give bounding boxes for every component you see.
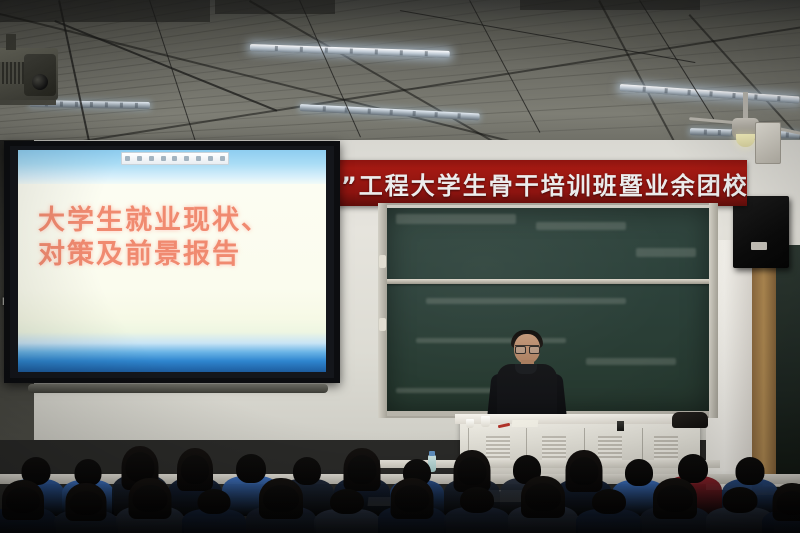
audience-member: [378, 484, 446, 533]
light-diffuser-segment: [325, 48, 328, 53]
audience-member-head: [263, 485, 299, 512]
projector-mount-plate: [0, 100, 56, 105]
slideshow-toolbar-icon[interactable]: [161, 156, 166, 161]
slideshow-toolbar-icon[interactable]: [149, 156, 154, 161]
projector-mount: [6, 34, 16, 50]
audience-member-head: [592, 489, 626, 514]
audience-member: [576, 488, 642, 533]
chalk-smudge: [636, 248, 696, 257]
slide-title-line-2: 对策及前景报告: [38, 238, 310, 272]
light-diffuser-segment: [367, 109, 370, 114]
light-diffuser-segment: [300, 47, 303, 52]
presenter: [487, 330, 567, 425]
slideshow-toolbar-icon[interactable]: [208, 156, 213, 161]
light-diffuser-segment: [435, 112, 438, 117]
light-diffuser-segment: [275, 46, 278, 51]
audience-member: [116, 484, 184, 533]
ceiling-tile: [520, 0, 700, 10]
audience: [0, 424, 800, 533]
slide-title: 大学生就业现状、 对策及前景报告: [38, 204, 310, 272]
audience-member-head: [330, 489, 364, 514]
light-diffuser-segment: [777, 96, 780, 101]
audience-member-head: [777, 491, 800, 515]
blackboard-left-edge: [378, 203, 387, 418]
light-diffuser-segment: [375, 49, 378, 54]
light-diffuser-segment: [412, 111, 415, 116]
light-diffuser-segment: [322, 106, 325, 111]
audience-member: [508, 482, 578, 533]
light-diffuser-segment: [350, 48, 353, 53]
light-diffuser-segment: [75, 102, 78, 107]
light-diffuser-segment: [105, 102, 108, 107]
audience-member: [0, 486, 56, 533]
light-diffuser-segment: [754, 94, 757, 99]
podium-top-surface: [455, 414, 705, 424]
audience-member: [182, 488, 246, 533]
audience-member-head: [6, 487, 40, 513]
speaker-badge: [751, 242, 767, 250]
light-diffuser-segment: [135, 103, 138, 108]
slideshow-toolbar-icon[interactable]: [196, 156, 201, 161]
floor-speaker: [733, 196, 789, 268]
audience-member-head: [395, 485, 430, 512]
projector-lens-housing: [24, 54, 56, 96]
slideshow-toolbar-icon[interactable]: [125, 156, 130, 161]
projected-slide: 大学生就业现状、 对策及前景报告: [18, 150, 326, 372]
light-diffuser-segment: [786, 132, 789, 137]
projector-vent: [0, 62, 26, 84]
presenter-collar: [515, 364, 537, 374]
light-diffuser-segment: [390, 110, 393, 115]
light-diffuser-segment: [704, 129, 707, 134]
light-diffuser-segment: [60, 102, 63, 107]
audience-member-head: [70, 491, 103, 515]
light-diffuser-segment: [400, 50, 403, 55]
audience-member-head: [460, 487, 494, 513]
powerpoint-toolbar[interactable]: [121, 152, 229, 165]
audience-member: [314, 488, 380, 533]
slideshow-toolbar-icon[interactable]: [137, 156, 142, 161]
audience-member-head: [525, 483, 561, 511]
audience-member: [762, 490, 800, 533]
ceiling: [0, 0, 800, 152]
slideshow-toolbar-icon[interactable]: [220, 156, 225, 161]
blackboard-chalk-rail: [386, 279, 710, 284]
slideshow-toolbar-icon[interactable]: [172, 156, 177, 161]
audience-member: [246, 484, 316, 533]
projector-lens: [32, 74, 48, 90]
slideshow-toolbar-icon[interactable]: [184, 156, 189, 161]
light-diffuser-segment: [709, 91, 712, 96]
light-diffuser-segment: [642, 87, 645, 92]
chalk-smudge: [396, 214, 516, 224]
blackboard-clip: [379, 255, 386, 268]
light-diffuser-segment: [732, 93, 735, 98]
audience-member: [640, 484, 710, 533]
blackboard-right-edge: [709, 203, 718, 418]
audience-member: [54, 490, 118, 533]
screen-bottom-roller: [28, 384, 328, 393]
lecture-hall-photo: EW ”工程大学生骨干培训班暨业余团校 大学生就业现状、 对策及前景报告: [0, 0, 800, 533]
chalk-smudge: [586, 358, 676, 365]
light-diffuser-segment: [120, 103, 123, 108]
light-diffuser-segment: [717, 130, 720, 135]
light-diffuser-segment: [457, 113, 460, 118]
red-banner: ”工程大学生骨干培训班暨业余团校: [337, 160, 747, 206]
glasses-icon: [515, 345, 539, 352]
audience-member-head: [657, 485, 693, 512]
slide-title-line-1: 大学生就业现状、: [38, 204, 310, 238]
light-diffuser-segment: [687, 90, 690, 95]
ceiling-tile: [215, 0, 335, 14]
audience-member: [444, 486, 510, 533]
banner-text: ”工程大学生骨干培训班暨业余团校: [341, 166, 747, 201]
light-diffuser-segment: [425, 51, 428, 56]
chalk-smudge: [426, 298, 626, 304]
wall-speaker: [755, 122, 781, 164]
audience-member-head: [133, 485, 168, 512]
audience-row: [0, 472, 800, 533]
audience-member-head: [723, 487, 758, 513]
blackboard-clip: [379, 318, 386, 331]
ceiling-projector: [0, 48, 58, 100]
light-diffuser-segment: [90, 102, 93, 107]
chalk-smudge: [536, 222, 626, 230]
audience-member-head: [198, 489, 231, 514]
light-diffuser-segment: [664, 88, 667, 93]
